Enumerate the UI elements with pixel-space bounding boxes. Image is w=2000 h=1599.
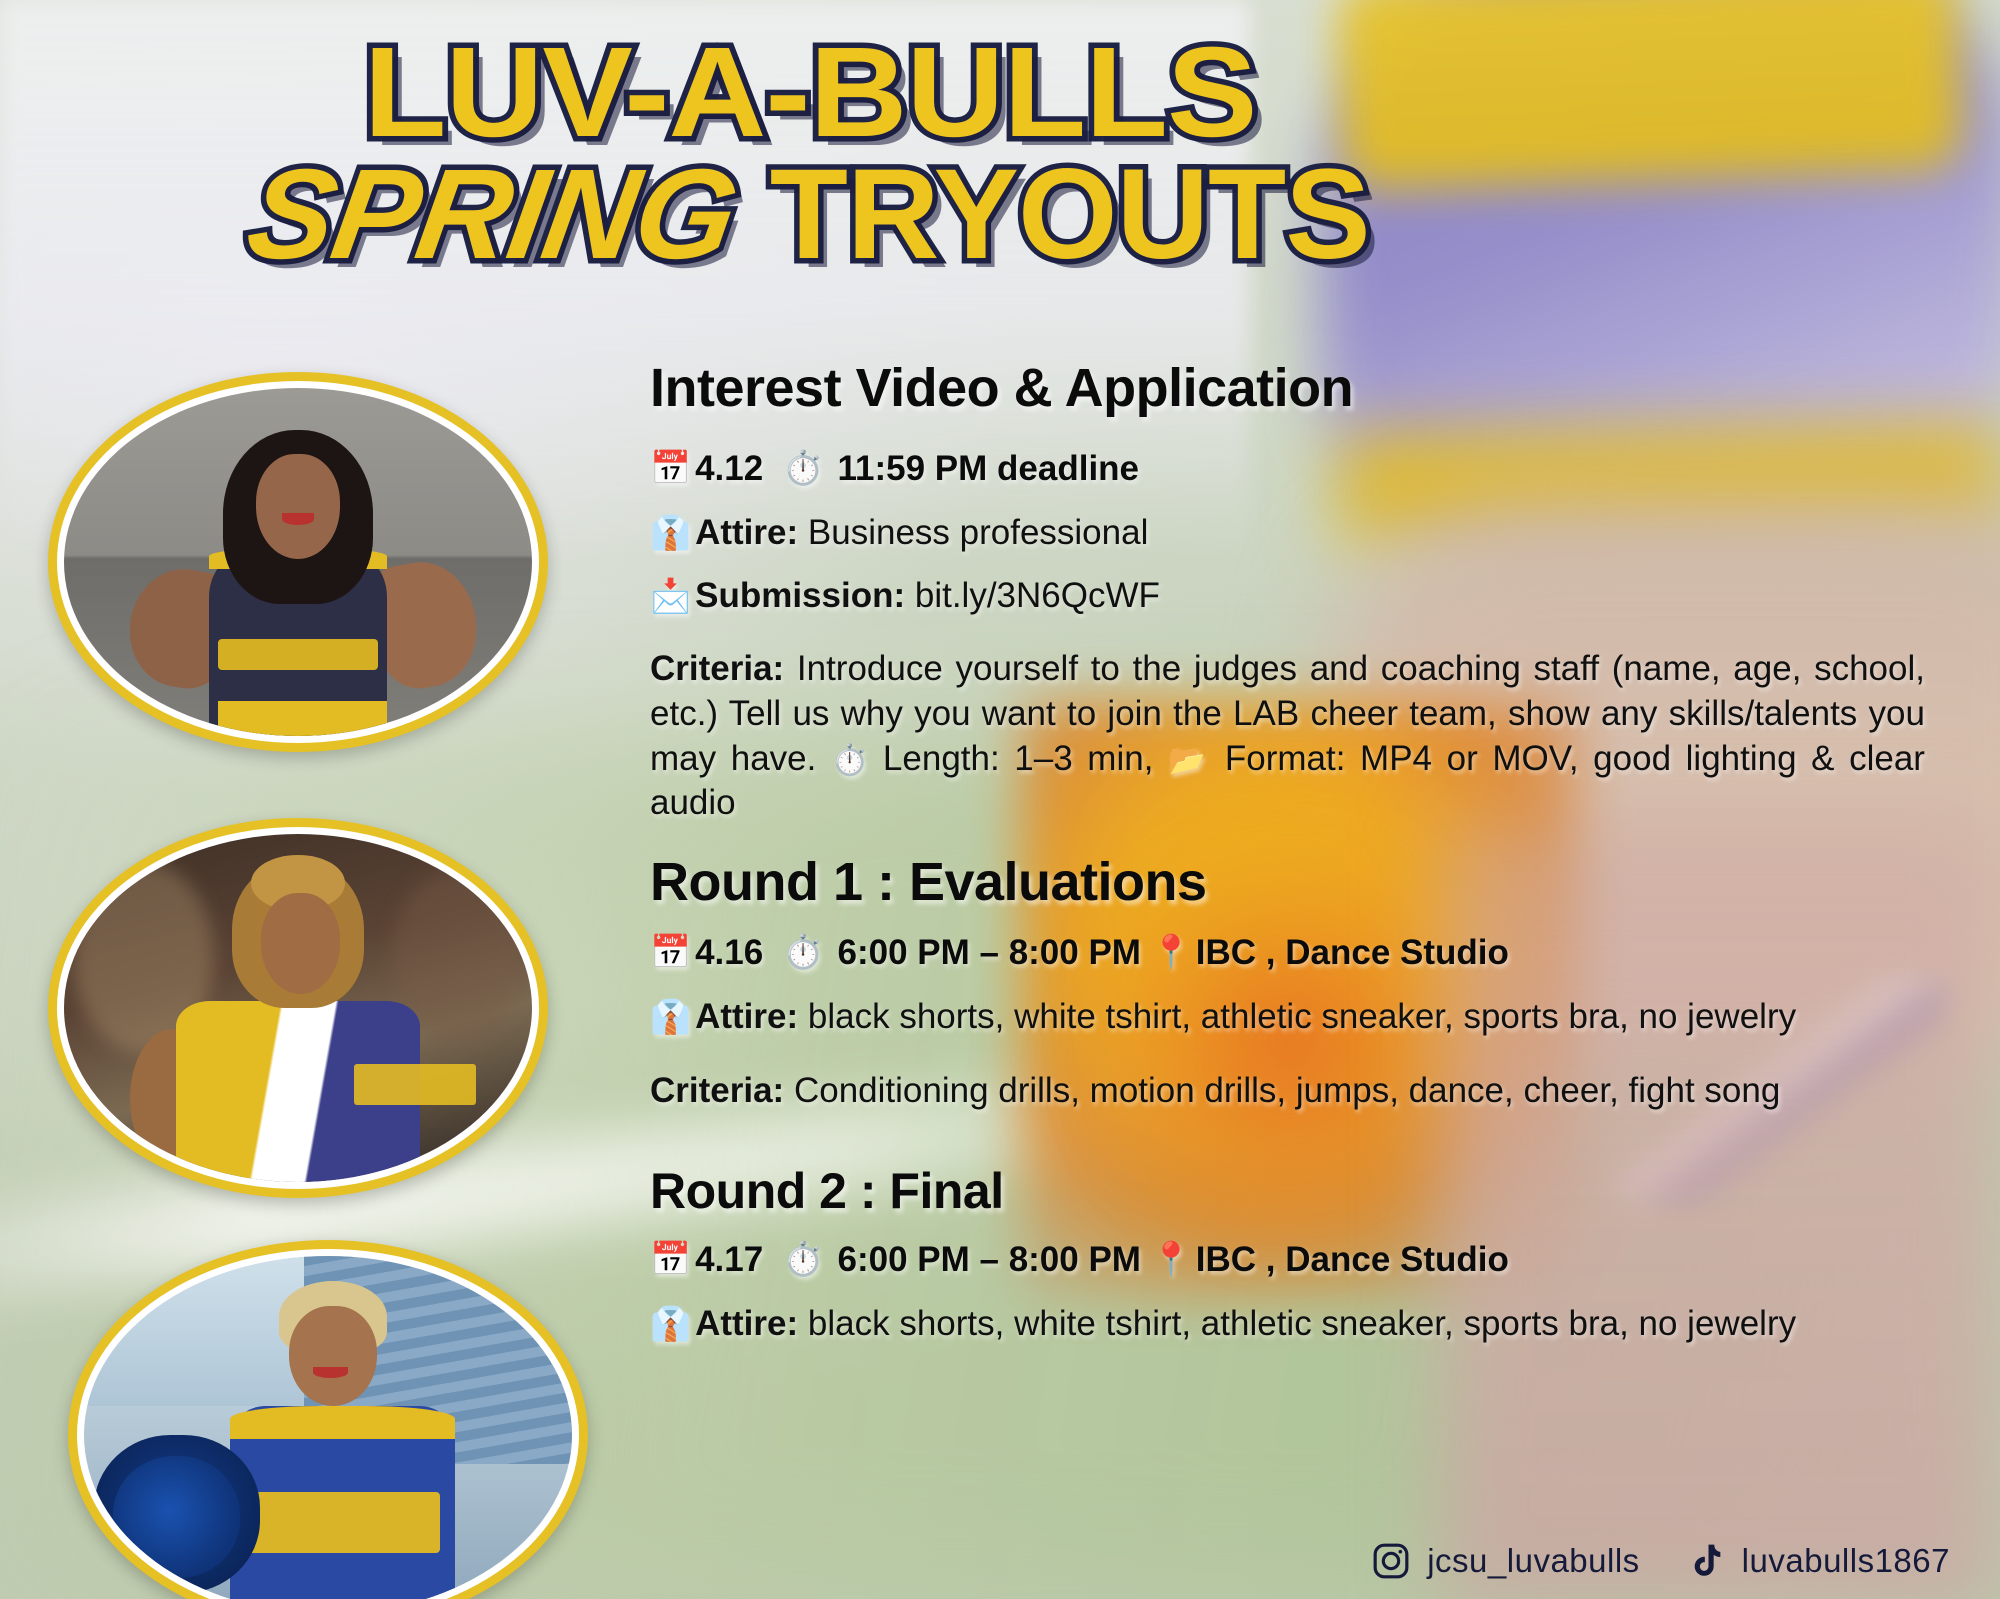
photo-2-face bbox=[261, 893, 341, 994]
interest-date-time-row: 📅4.12 ⏱️ 11:59 PM deadline bbox=[650, 445, 1925, 492]
round2-date-time-row: 📅4.17 ⏱️ 6:00 PM – 8:00 PM 📍IBC , Dance … bbox=[650, 1236, 1925, 1283]
interest-submission-link[interactable]: bit.ly/3N6QcWF bbox=[915, 576, 1160, 615]
interest-attire-row: 👔Attire: Business professional bbox=[650, 510, 1925, 556]
interest-criteria-label: Criteria: bbox=[650, 649, 784, 688]
photo-1-image bbox=[64, 388, 532, 736]
title-tryouts-word: TRYOUTS bbox=[770, 143, 1370, 286]
interest-submission-label: Submission: bbox=[695, 576, 905, 615]
photo-dancer-jcsu-blue bbox=[68, 1240, 588, 1599]
round1-time: 6:00 PM – 8:00 PM bbox=[838, 929, 1141, 976]
stopwatch-icon: ⏱️ bbox=[831, 744, 868, 777]
section-heading-interest-video: Interest Video & Application bbox=[650, 360, 1925, 417]
interest-time: 11:59 PM deadline bbox=[838, 445, 1140, 492]
title-line-1: LUV-A-BULLS bbox=[0, 34, 1669, 152]
round2-attire-row: 👔Attire: black shorts, white tshirt, ath… bbox=[650, 1301, 1925, 1347]
photo-3-jcsu-letters bbox=[245, 1492, 440, 1553]
round1-attire-row: 👔Attire: black shorts, white tshirt, ath… bbox=[650, 994, 1925, 1040]
photo-1-face bbox=[256, 454, 340, 558]
tiktok-handle[interactable]: luvabulls1867 bbox=[1686, 1541, 1950, 1581]
necktie-icon: 👔 bbox=[650, 512, 691, 555]
round1-attire-value: black shorts, white tshirt, athletic sne… bbox=[808, 997, 1796, 1036]
pin-icon: 📍 bbox=[1151, 1237, 1192, 1282]
stopwatch-icon: ⏱️ bbox=[783, 1237, 824, 1282]
round2-location: IBC , Dance Studio bbox=[1196, 1236, 1509, 1283]
round2-attire-value: black shorts, white tshirt, athletic sne… bbox=[808, 1304, 1796, 1343]
tiktok-icon bbox=[1686, 1541, 1726, 1581]
necktie-icon: 👔 bbox=[650, 1303, 691, 1346]
round2-time: 6:00 PM – 8:00 PM bbox=[838, 1236, 1141, 1283]
flyer-poster: LUV-A-BULLS SPRING TRYOUTS bbox=[0, 0, 2000, 1599]
round1-attire-label: Attire: bbox=[695, 997, 798, 1036]
photo-2-image bbox=[64, 834, 532, 1182]
calendar-icon: 📅 bbox=[650, 930, 691, 975]
round1-criteria-value: Conditioning drills, motion drills, jump… bbox=[794, 1071, 1780, 1110]
title-spring-word: SPRING bbox=[241, 156, 744, 274]
round1-date-time-row: 📅4.16 ⏱️ 6:00 PM – 8:00 PM 📍IBC , Dance … bbox=[650, 929, 1925, 976]
instagram-handle[interactable]: jcsu_luvabulls bbox=[1371, 1541, 1639, 1581]
envelope-icon: 📩 bbox=[650, 575, 691, 618]
social-handles: jcsu_luvabulls luvabulls1867 bbox=[1371, 1541, 1950, 1581]
tiktok-handle-label: luvabulls1867 bbox=[1742, 1542, 1950, 1580]
round2-attire-label: Attire: bbox=[695, 1304, 798, 1343]
section-heading-round-1: Round 1 : Evaluations bbox=[650, 854, 1925, 911]
interest-criteria-paragraph: Criteria: Introduce yourself to the judg… bbox=[650, 647, 1925, 826]
pin-icon: 📍 bbox=[1151, 930, 1192, 975]
round1-criteria-label: Criteria: bbox=[650, 1071, 784, 1110]
round1-date: 4.16 bbox=[695, 929, 763, 976]
round1-location: IBC , Dance Studio bbox=[1196, 929, 1509, 976]
photo-dancer-gold-uniform bbox=[48, 818, 548, 1198]
interest-attire-value: Business professional bbox=[808, 513, 1148, 552]
calendar-icon: 📅 bbox=[650, 446, 691, 491]
photo-3-lips bbox=[313, 1367, 347, 1378]
interest-submission-row: 📩Submission: bit.ly/3N6QcWF bbox=[650, 573, 1925, 619]
stopwatch-icon: ⏱️ bbox=[783, 930, 824, 975]
poster-title: LUV-A-BULLS SPRING TRYOUTS bbox=[0, 34, 1620, 274]
calendar-icon: 📅 bbox=[650, 1237, 691, 1282]
instagram-handle-label: jcsu_luvabulls bbox=[1427, 1542, 1639, 1580]
round1-criteria-row: Criteria: Conditioning drills, motion dr… bbox=[650, 1068, 1925, 1114]
interest-criteria-length: Length: 1–3 min, bbox=[883, 739, 1154, 778]
instagram-icon bbox=[1371, 1541, 1411, 1581]
folder-icon: 📂 bbox=[1168, 744, 1210, 777]
title-line-2: SPRING TRYOUTS bbox=[0, 156, 1620, 274]
photo-1-lab-logo bbox=[218, 639, 377, 670]
section-heading-round-2: Round 2 : Final bbox=[650, 1165, 1925, 1218]
photo-3-image bbox=[84, 1256, 572, 1599]
photo-3-face bbox=[289, 1306, 377, 1406]
photo-3-uniform-trim bbox=[230, 1406, 454, 1438]
necktie-icon: 👔 bbox=[650, 996, 691, 1039]
interest-attire-label: Attire: bbox=[695, 513, 798, 552]
interest-date: 4.12 bbox=[695, 445, 763, 492]
photo-1-skirt bbox=[218, 701, 386, 736]
round2-date: 4.17 bbox=[695, 1236, 763, 1283]
stopwatch-icon: ⏱️ bbox=[783, 446, 824, 491]
photo-2-jcsu-letters bbox=[354, 1064, 476, 1106]
photo-3-pompom-highlight bbox=[113, 1456, 240, 1578]
content-column: Interest Video & Application 📅4.12 ⏱️ 11… bbox=[650, 360, 1925, 1346]
photo-dancer-lab-top bbox=[48, 372, 548, 752]
